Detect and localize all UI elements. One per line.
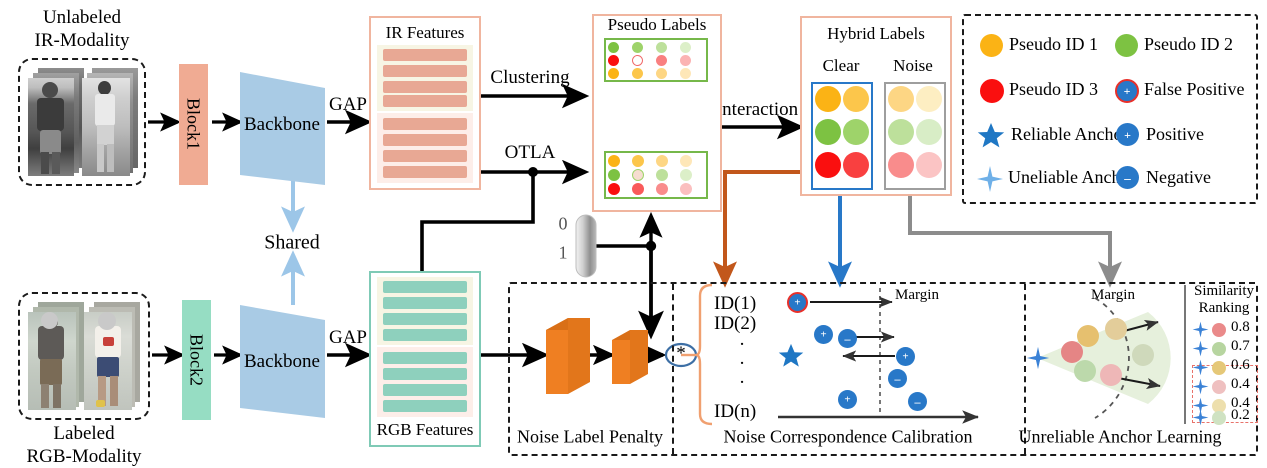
cone-sample-dot bbox=[1074, 360, 1096, 382]
cone-sample-dot bbox=[1100, 364, 1122, 386]
ual-cone-dots bbox=[0, 0, 1267, 468]
cone-sample-dot bbox=[1105, 318, 1127, 340]
cone-sample-dot bbox=[1077, 325, 1099, 347]
cone-sample-dot bbox=[1061, 341, 1083, 363]
figure-canvas: Block1 Block2 Backbone Backbone Shared G… bbox=[0, 0, 1267, 468]
cone-sample-dot bbox=[1132, 344, 1154, 366]
